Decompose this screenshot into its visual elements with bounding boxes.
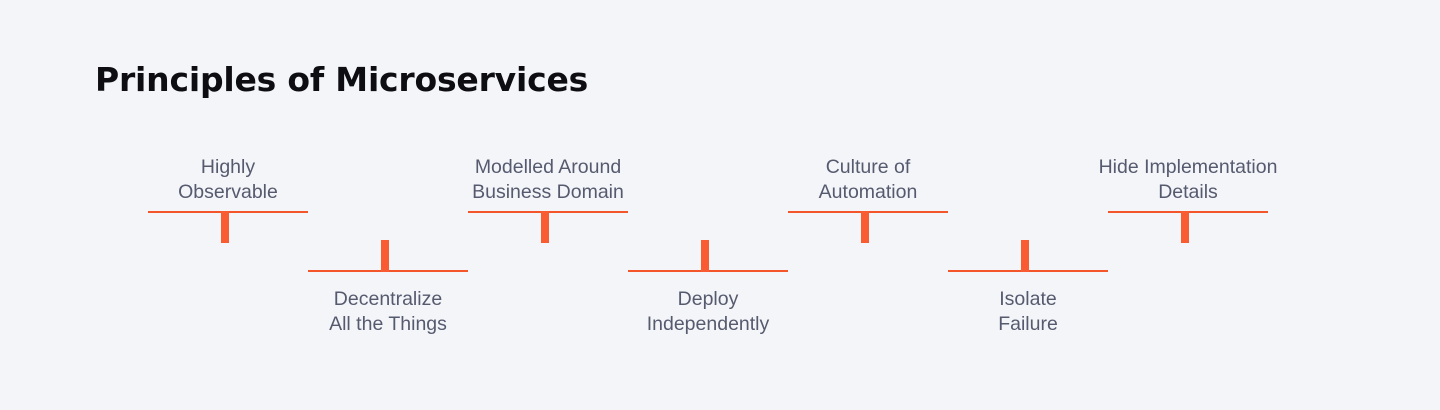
timeline-tick-marker [381, 240, 389, 272]
timeline-item-label: Highly Observable [118, 155, 338, 205]
timeline-tick-marker [221, 211, 229, 243]
timeline-item-label: Deploy Independently [598, 287, 818, 337]
timeline-item-label: Isolate Failure [918, 287, 1138, 337]
infographic-canvas: Principles of Microservices Highly Obser… [0, 0, 1440, 410]
timeline-item-label: Culture of Automation [758, 155, 978, 205]
timeline-item-label: Hide Implementation Details [1078, 155, 1298, 205]
timeline-item-label: Modelled Around Business Domain [438, 155, 658, 205]
timeline-tick-marker [1021, 240, 1029, 272]
timeline-item-label: Decentralize All the Things [278, 287, 498, 337]
timeline-tick-marker [1181, 211, 1189, 243]
timeline-tick-marker [541, 211, 549, 243]
page-title: Principles of Microservices [95, 60, 588, 99]
timeline-tick-marker [701, 240, 709, 272]
zigzag-timeline: Highly ObservableDecentralize All the Th… [148, 140, 1270, 340]
timeline-tick-marker [861, 211, 869, 243]
timeline-item-7: Hide Implementation Details [1108, 140, 1268, 340]
